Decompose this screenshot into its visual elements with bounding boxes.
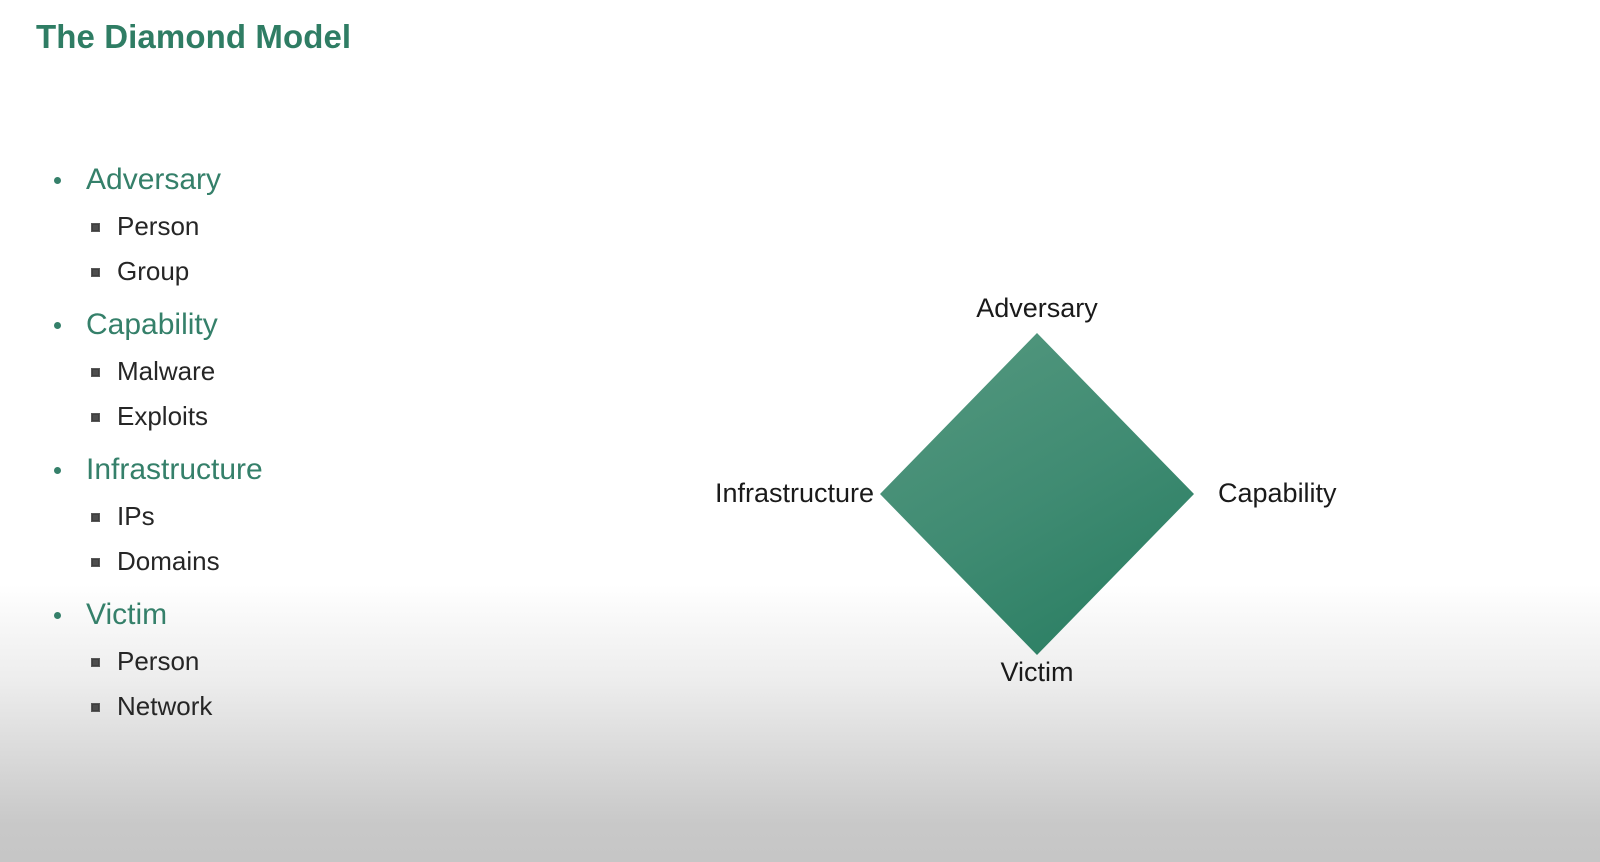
outline-item-label: Victim [86, 598, 167, 631]
outline-subitem-label: Person [117, 646, 199, 676]
diamond-label-capability: Capability [1218, 478, 1337, 509]
outline-item-label: Adversary [86, 163, 221, 196]
outline-item-label: Capability [86, 308, 218, 341]
outline-item-label: Infrastructure [86, 453, 263, 486]
outline-item-victim[interactable]: Victim [38, 590, 598, 639]
round-bullet-icon [54, 177, 61, 184]
outline-subitem-label: Malware [117, 356, 215, 386]
round-bullet-icon [54, 467, 61, 474]
outline-list: Adversary Person Group Capability Malwar… [38, 155, 598, 735]
outline-group: Adversary Person Group [38, 155, 598, 294]
diamond-label-adversary: Adversary [640, 293, 1434, 324]
outline-subitem-label: Person [117, 211, 199, 241]
square-bullet-icon [91, 413, 100, 422]
outline-subitem-exploits[interactable]: Exploits [38, 394, 598, 439]
round-bullet-icon [54, 612, 61, 619]
outline-subitem-malware[interactable]: Malware [38, 349, 598, 394]
outline-subitem-label: IPs [117, 501, 155, 531]
outline-item-infrastructure[interactable]: Infrastructure [38, 445, 598, 494]
diamond-label-victim: Victim [640, 657, 1434, 688]
outline-group: Victim Person Network [38, 590, 598, 729]
diamond-diagram: Adversary Capability Victim Infrastructu… [640, 275, 1440, 705]
outline-subitem-domains[interactable]: Domains [38, 539, 598, 584]
slide-canvas: The Diamond Model Adversary Person Group… [0, 0, 1600, 862]
page-title: The Diamond Model [36, 18, 351, 56]
outline-subitem-label: Exploits [117, 401, 208, 431]
round-bullet-icon [54, 322, 61, 329]
square-bullet-icon [91, 223, 100, 232]
outline-subitem-ips[interactable]: IPs [38, 494, 598, 539]
outline-subitem-network[interactable]: Network [38, 684, 598, 729]
outline-subitem-label: Group [117, 256, 189, 286]
outline-subitem-group[interactable]: Group [38, 249, 598, 294]
square-bullet-icon [91, 658, 100, 667]
square-bullet-icon [91, 703, 100, 712]
outline-subitem-person[interactable]: Person [38, 639, 598, 684]
outline-group: Infrastructure IPs Domains [38, 445, 598, 584]
diamond-shape-icon [880, 333, 1194, 655]
outline-item-adversary[interactable]: Adversary [38, 155, 598, 204]
square-bullet-icon [91, 268, 100, 277]
outline-subitem-label: Domains [117, 546, 220, 576]
diamond-label-infrastructure: Infrastructure [715, 478, 874, 509]
outline-group: Capability Malware Exploits [38, 300, 598, 439]
square-bullet-icon [91, 513, 100, 522]
outline-item-capability[interactable]: Capability [38, 300, 598, 349]
outline-subitem-person[interactable]: Person [38, 204, 598, 249]
square-bullet-icon [91, 368, 100, 377]
outline-subitem-label: Network [117, 691, 212, 721]
square-bullet-icon [91, 558, 100, 567]
